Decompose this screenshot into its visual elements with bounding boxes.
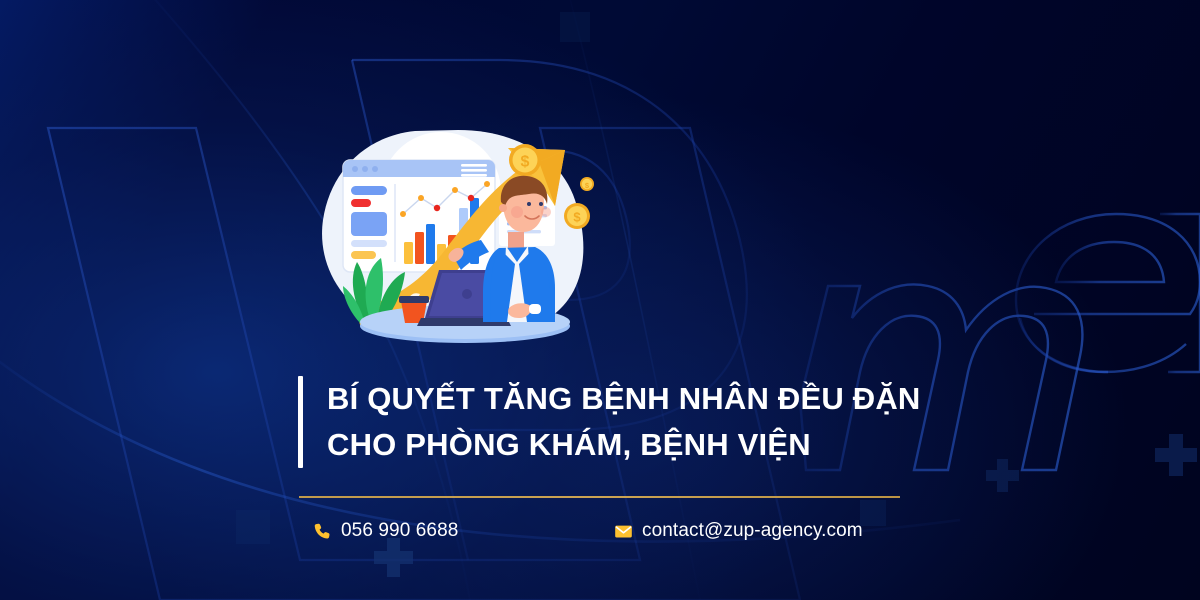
medical-cross-icon	[986, 459, 1019, 492]
envelope-icon	[614, 522, 633, 541]
marketing-banner: $ $ $	[0, 0, 1200, 600]
title-line-2: CHO PHÒNG KHÁM, BỆNH VIỆN	[327, 422, 921, 468]
medical-cross-icon	[1155, 434, 1197, 476]
title-accent-bar	[298, 376, 303, 468]
phone-number: 056 990 6688	[341, 520, 458, 542]
watermark-letter-d	[1160, 176, 1200, 372]
headline-block: BÍ QUYẾT TĂNG BỆNH NHÂN ĐỀU ĐẶN CHO PHÒN…	[298, 376, 921, 468]
gold-divider	[299, 496, 900, 498]
contact-bar: 056 990 6688 contact@zup-agency.com	[299, 511, 900, 551]
title-line-1: BÍ QUYẾT TĂNG BỆNH NHÂN ĐỀU ĐẶN	[327, 376, 921, 422]
svg-text:$: $	[521, 154, 530, 171]
phone-icon	[313, 522, 332, 541]
page-title: BÍ QUYẾT TĂNG BỆNH NHÂN ĐỀU ĐẶN CHO PHÒN…	[327, 376, 921, 468]
email-address: contact@zup-agency.com	[642, 520, 863, 542]
business-growth-illustration: $ $ $	[303, 122, 613, 344]
contact-email[interactable]: contact@zup-agency.com	[599, 520, 900, 542]
watermark-letter-e	[1016, 214, 1200, 372]
svg-text:$: $	[573, 210, 581, 225]
contact-phone[interactable]: 056 990 6688	[299, 520, 599, 542]
